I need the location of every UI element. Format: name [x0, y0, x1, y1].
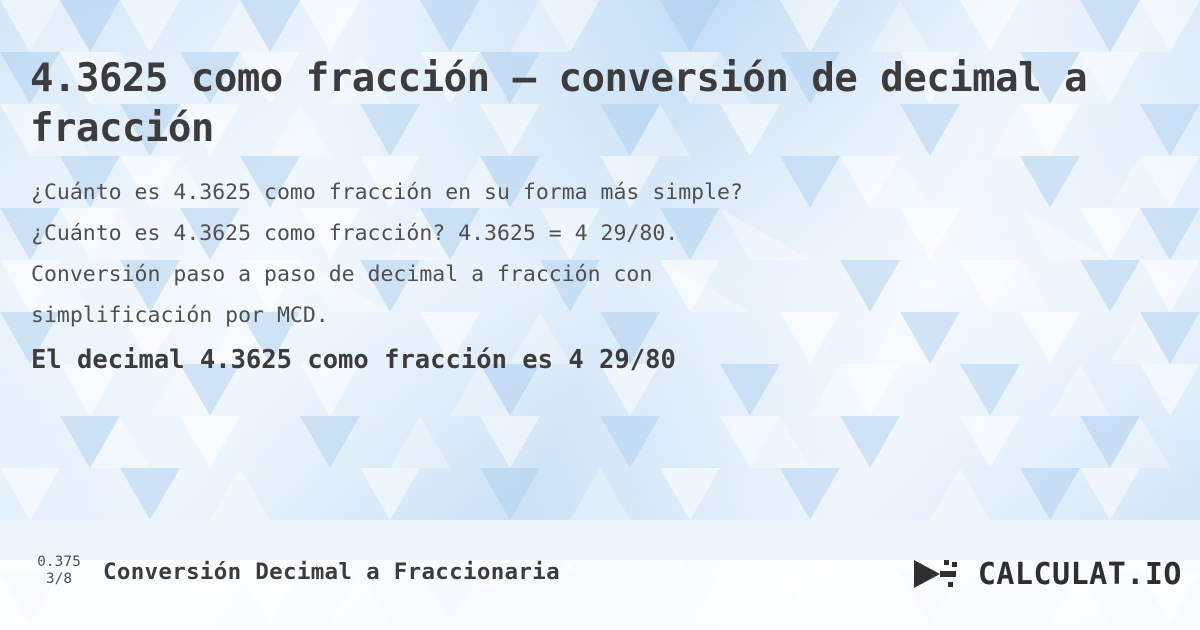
intro-line-4: simplificación por MCD. — [31, 295, 1121, 336]
intro-line-3: Conversión paso a paso de decimal a frac… — [31, 254, 1121, 295]
badge-fraction-value: 3/8 — [27, 571, 91, 588]
answer-statement: El decimal 4.3625 como fracción es 4 29/… — [31, 345, 1131, 375]
intro-line-1: ¿Cuánto es 4.3625 como fracción en su fo… — [31, 172, 1121, 213]
fraction-example-badge: 0.375 3/8 — [27, 554, 91, 588]
footer-bar: 0.375 3/8 Conversión Decimal a Fracciona… — [0, 540, 1200, 630]
intro-paragraph: ¿Cuánto es 4.3625 como fracción en su fo… — [31, 172, 1121, 336]
page-title: 4.3625 como fracción – conversión de dec… — [30, 54, 1140, 154]
page-root: 4.3625 como fracción – conversión de dec… — [0, 0, 1200, 630]
intro-line-2: ¿Cuánto es 4.3625 como fracción? 4.3625 … — [31, 213, 1121, 254]
brand-logo[interactable]: CALCULAT.IO — [910, 554, 1182, 594]
brand-text: CALCULAT.IO — [978, 557, 1182, 592]
badge-decimal-value: 0.375 — [27, 554, 91, 571]
calculator-mark-icon — [910, 554, 972, 594]
footer-site-title: Conversión Decimal a Fraccionaria — [103, 559, 560, 585]
